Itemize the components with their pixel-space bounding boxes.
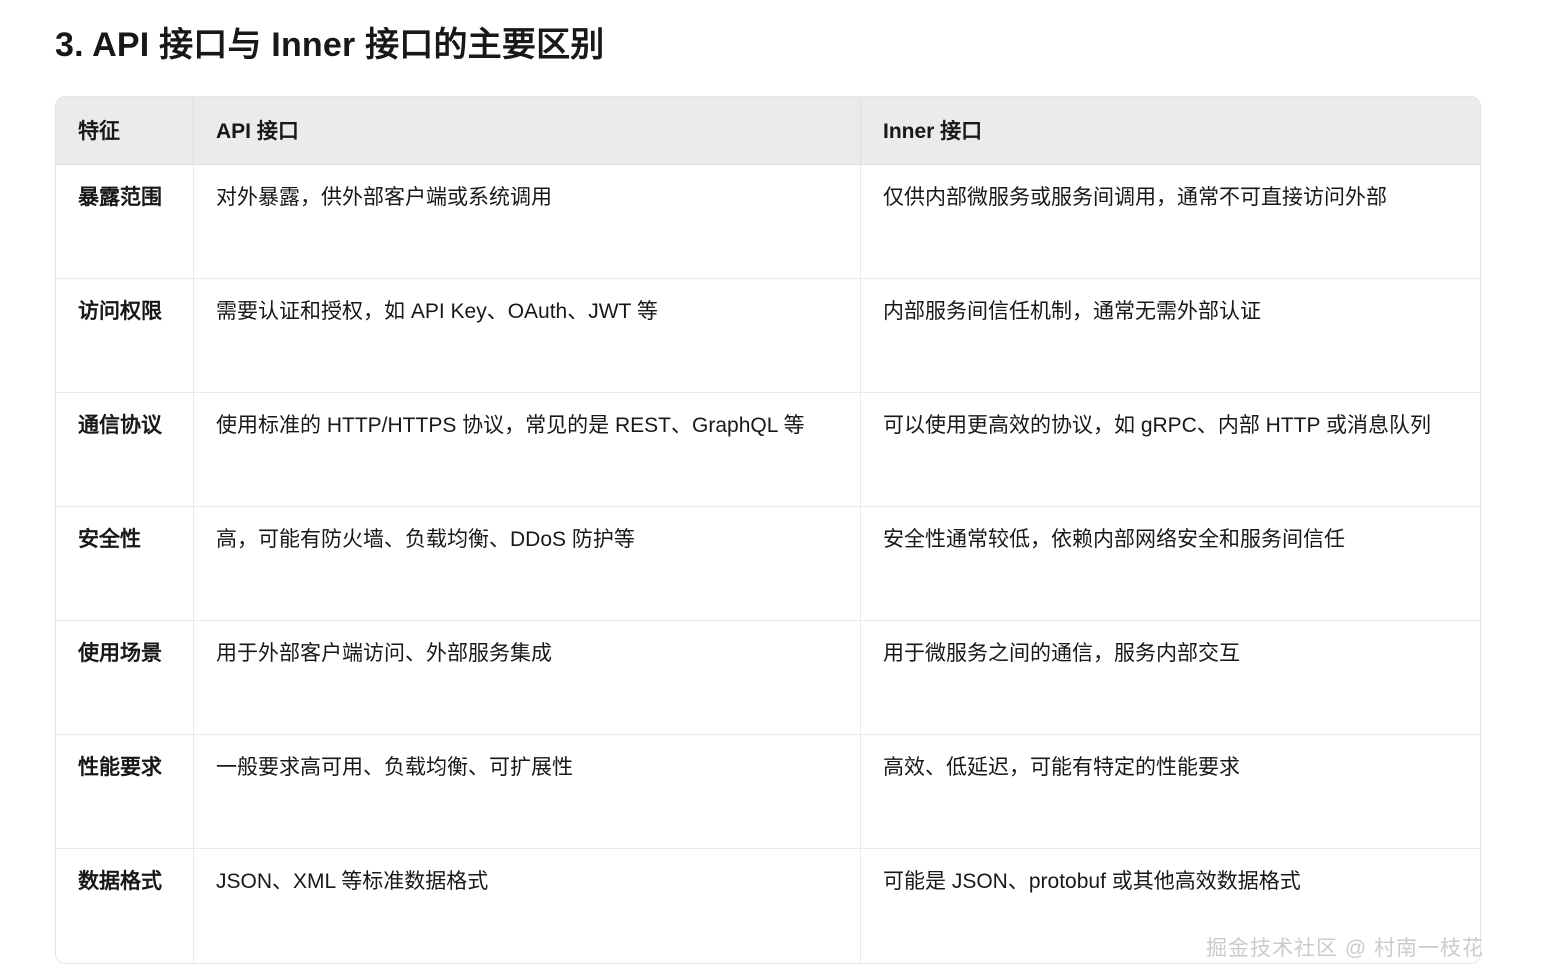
cell-inner: 高效、低延迟，可能有特定的性能要求 — [861, 735, 1480, 849]
table-row: 安全性 高，可能有防火墙、负载均衡、DDoS 防护等 安全性通常较低，依赖内部网… — [56, 507, 1480, 621]
column-header-inner: Inner 接口 — [861, 97, 1480, 165]
table-header: 特征 API 接口 Inner 接口 — [56, 97, 1480, 165]
cell-feature: 通信协议 — [56, 393, 194, 507]
cell-feature: 数据格式 — [56, 849, 194, 963]
cell-feature: 性能要求 — [56, 735, 194, 849]
cell-api: 高，可能有防火墙、负载均衡、DDoS 防护等 — [194, 507, 861, 621]
api-vs-inner-comparison-table: 特征 API 接口 Inner 接口 暴露范围 对外暴露，供外部客户端或系统调用… — [55, 96, 1481, 964]
cell-api: JSON、XML 等标准数据格式 — [194, 849, 861, 963]
cell-feature: 安全性 — [56, 507, 194, 621]
table-row: 使用场景 用于外部客户端访问、外部服务集成 用于微服务之间的通信，服务内部交互 — [56, 621, 1480, 735]
table-body: 暴露范围 对外暴露，供外部客户端或系统调用 仅供内部微服务或服务间调用，通常不可… — [56, 165, 1480, 963]
cell-inner: 内部服务间信任机制，通常无需外部认证 — [861, 279, 1480, 393]
cell-inner: 仅供内部微服务或服务间调用，通常不可直接访问外部 — [861, 165, 1480, 279]
cell-api: 使用标准的 HTTP/HTTPS 协议，常见的是 REST、GraphQL 等 — [194, 393, 861, 507]
cell-api: 用于外部客户端访问、外部服务集成 — [194, 621, 861, 735]
cell-inner: 可能是 JSON、protobuf 或其他高效数据格式 — [861, 849, 1480, 963]
document-page: 3. API 接口与 Inner 接口的主要区别 特征 API 接口 Inner… — [0, 0, 1546, 980]
table-row: 暴露范围 对外暴露，供外部客户端或系统调用 仅供内部微服务或服务间调用，通常不可… — [56, 165, 1480, 279]
table-row: 访问权限 需要认证和授权，如 API Key、OAuth、JWT 等 内部服务间… — [56, 279, 1480, 393]
table-row: 数据格式 JSON、XML 等标准数据格式 可能是 JSON、protobuf … — [56, 849, 1480, 963]
column-header-feature: 特征 — [56, 97, 194, 165]
table-header-row: 特征 API 接口 Inner 接口 — [56, 97, 1480, 165]
page-title: 3. API 接口与 Inner 接口的主要区别 — [55, 20, 604, 70]
cell-api: 需要认证和授权，如 API Key、OAuth、JWT 等 — [194, 279, 861, 393]
table-row: 通信协议 使用标准的 HTTP/HTTPS 协议，常见的是 REST、Graph… — [56, 393, 1480, 507]
cell-inner: 可以使用更高效的协议，如 gRPC、内部 HTTP 或消息队列 — [861, 393, 1480, 507]
table-row: 性能要求 一般要求高可用、负载均衡、可扩展性 高效、低延迟，可能有特定的性能要求 — [56, 735, 1480, 849]
cell-api: 一般要求高可用、负载均衡、可扩展性 — [194, 735, 861, 849]
cell-feature: 暴露范围 — [56, 165, 194, 279]
cell-inner: 用于微服务之间的通信，服务内部交互 — [861, 621, 1480, 735]
cell-inner: 安全性通常较低，依赖内部网络安全和服务间信任 — [861, 507, 1480, 621]
cell-feature: 访问权限 — [56, 279, 194, 393]
comparison-table-container: 特征 API 接口 Inner 接口 暴露范围 对外暴露，供外部客户端或系统调用… — [55, 96, 1479, 964]
cell-api: 对外暴露，供外部客户端或系统调用 — [194, 165, 861, 279]
column-header-api: API 接口 — [194, 97, 861, 165]
cell-feature: 使用场景 — [56, 621, 194, 735]
